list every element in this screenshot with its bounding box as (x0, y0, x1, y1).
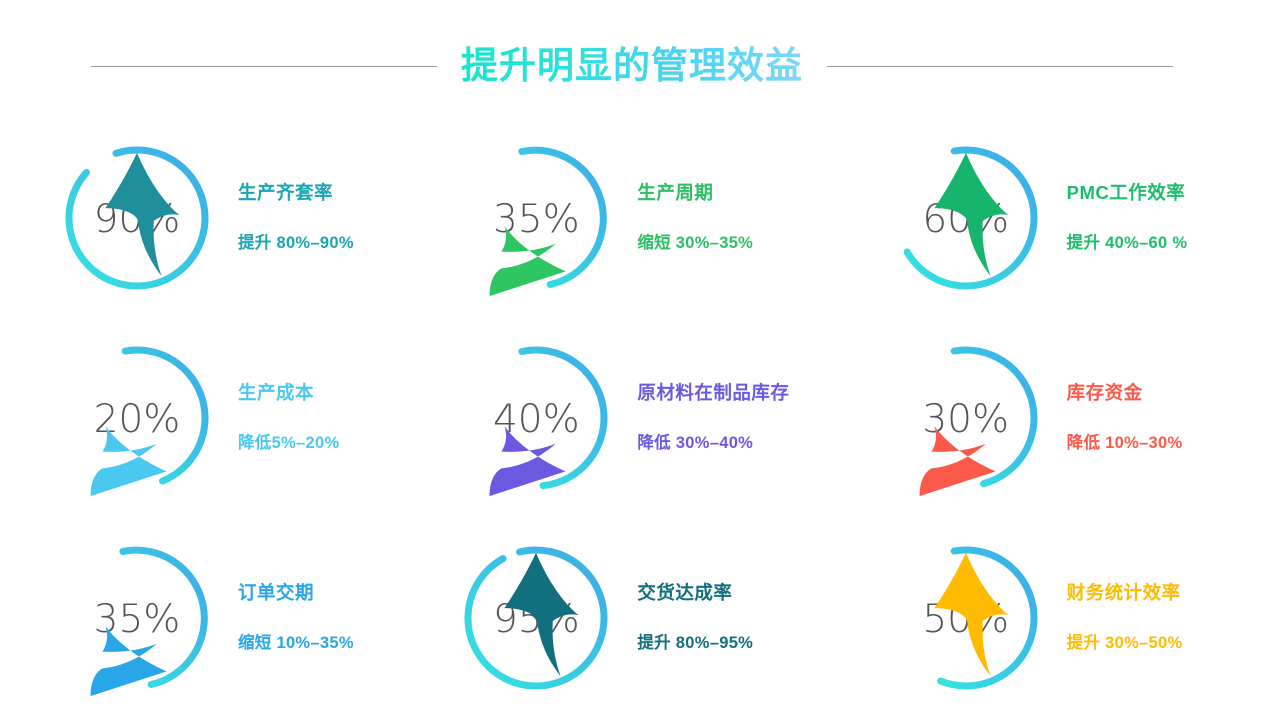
header-divider-right (827, 66, 1173, 67)
metric-labels: 订单交期缩短 10%–35% (238, 582, 354, 654)
arrow-up-icon (887, 543, 1045, 701)
arrow-down-icon (457, 343, 615, 501)
metric-labels: 原材料在制品库存降低 30%–40% (637, 382, 789, 454)
metric-title: 财务统计效率 (1067, 582, 1181, 604)
ring-center: 35% (58, 539, 216, 697)
metric-card: 95%交货达成率提升 80%–95% (421, 518, 842, 710)
metric-subtitle: 缩短 30%–35% (637, 234, 753, 254)
metric-subtitle: 缩短 10%–35% (238, 634, 354, 654)
metric-title: PMC工作效率 (1067, 182, 1186, 204)
metric-card: 35%生产周期缩短 30%–35% (421, 118, 842, 318)
page-title: 提升明显的管理效益 (459, 44, 805, 88)
slide-root: 提升明显的管理效益 90%生产齐套率提升 80%–90%35%生产周期缩短 30… (0, 0, 1264, 710)
ring-center: 60% (887, 139, 1045, 297)
ring-center: 40% (457, 339, 615, 497)
arrow-down-icon (58, 543, 216, 701)
metric-title: 生产周期 (637, 182, 713, 204)
metric-card: 20%生产成本降低5%–20% (0, 318, 421, 518)
metric-card: 30%库存资金降低 10%–30% (843, 318, 1264, 518)
metric-card: 35%订单交期缩短 10%–35% (0, 518, 421, 710)
metric-subtitle: 降低5%–20% (238, 434, 339, 454)
metric-subtitle: 提升 80%–90% (238, 234, 354, 254)
arrow-down-icon (887, 343, 1045, 501)
metric-labels: 库存资金降低 10%–30% (1067, 382, 1183, 454)
metric-grid: 90%生产齐套率提升 80%–90%35%生产周期缩短 30%–35%60%PM… (0, 118, 1264, 710)
metric-title: 生产齐套率 (238, 182, 333, 204)
arrow-down-icon (457, 143, 615, 301)
arrow-up-icon (887, 143, 1045, 301)
progress-ring: 90% (58, 139, 216, 297)
metric-card: 60%PMC工作效率提升 40%–60 % (843, 118, 1264, 318)
metric-card: 40%原材料在制品库存降低 30%–40% (421, 318, 842, 518)
ring-center: 35% (457, 139, 615, 297)
metric-labels: 生产齐套率提升 80%–90% (238, 182, 354, 254)
metric-card: 50%财务统计效率提升 30%–50% (843, 518, 1264, 710)
header-divider-left (91, 66, 437, 67)
metric-title: 交货达成率 (637, 582, 732, 604)
progress-ring: 95% (457, 539, 615, 697)
metric-labels: 交货达成率提升 80%–95% (637, 582, 753, 654)
progress-ring: 35% (58, 539, 216, 697)
metric-title: 原材料在制品库存 (637, 382, 789, 404)
progress-ring: 30% (887, 339, 1045, 497)
ring-center: 20% (58, 339, 216, 497)
ring-center: 30% (887, 339, 1045, 497)
progress-ring: 50% (887, 539, 1045, 697)
ring-center: 50% (887, 539, 1045, 697)
metric-title: 订单交期 (238, 582, 314, 604)
arrow-up-icon (58, 143, 216, 301)
slide-header: 提升明显的管理效益 (0, 44, 1264, 88)
ring-center: 95% (457, 539, 615, 697)
metric-subtitle: 提升 30%–50% (1067, 634, 1183, 654)
progress-ring: 40% (457, 339, 615, 497)
metric-subtitle: 提升 80%–95% (637, 634, 753, 654)
metric-subtitle: 提升 40%–60 % (1067, 234, 1188, 254)
progress-ring: 60% (887, 139, 1045, 297)
progress-ring: 35% (457, 139, 615, 297)
progress-ring: 20% (58, 339, 216, 497)
metric-labels: 生产成本降低5%–20% (238, 382, 339, 454)
metric-subtitle: 降低 30%–40% (637, 434, 753, 454)
metric-title: 库存资金 (1067, 382, 1143, 404)
metric-labels: PMC工作效率提升 40%–60 % (1067, 182, 1188, 254)
ring-center: 90% (58, 139, 216, 297)
metric-card: 90%生产齐套率提升 80%–90% (0, 118, 421, 318)
arrow-up-icon (457, 543, 615, 701)
metric-title: 生产成本 (238, 382, 314, 404)
metric-subtitle: 降低 10%–30% (1067, 434, 1183, 454)
metric-labels: 生产周期缩短 30%–35% (637, 182, 753, 254)
arrow-down-icon (58, 343, 216, 501)
metric-labels: 财务统计效率提升 30%–50% (1067, 582, 1183, 654)
